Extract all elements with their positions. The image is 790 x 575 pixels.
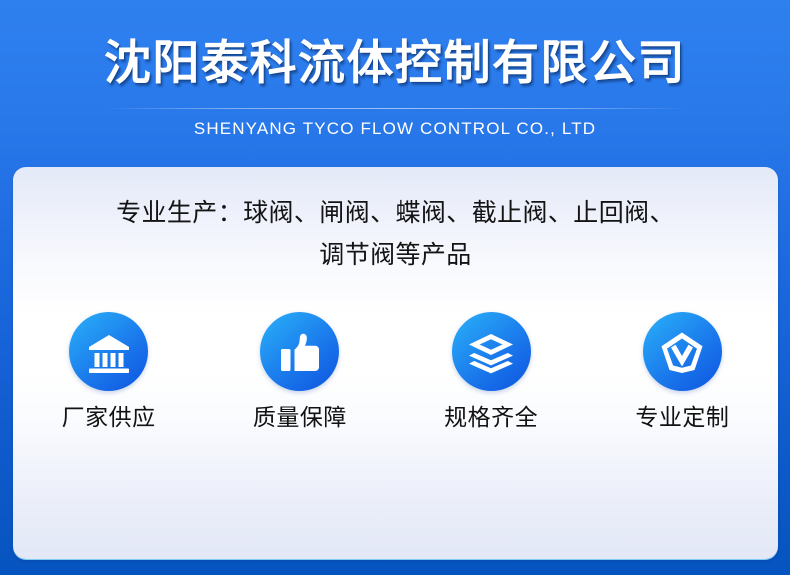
bank-building-icon [84,327,134,377]
product-description: 专业生产：球阀、闸阀、蝶阀、截止阀、止回阀、 调节阀等产品 [13,192,778,276]
feature-icon-circle [260,312,339,391]
feature-label: 专业定制 [635,403,729,431]
company-promo-banner: 沈阳泰科流体控制有限公司 SHENYANG TYCO FLOW CONTROL … [0,0,790,575]
feature-label: 质量保障 [253,403,347,431]
feature-icon-circle [69,312,148,391]
product-description-line-2: 调节阀等产品 [13,234,778,276]
feature-item-quality-guarantee: 质量保障 [220,312,380,431]
banner-header: 沈阳泰科流体控制有限公司 SHENYANG TYCO FLOW CONTROL … [0,0,790,167]
stacked-layers-icon [466,327,516,377]
feature-item-manufacturer-supply: 厂家供应 [29,312,189,431]
feature-list: 厂家供应 质量保障 [13,312,778,431]
feature-item-custom-manufacturing: 专业定制 [602,312,762,431]
feature-label: 规格齐全 [444,403,538,431]
diamond-gem-icon [657,327,707,377]
product-description-line-1: 专业生产：球阀、闸阀、蝶阀、截止阀、止回阀、 [13,192,778,234]
feature-item-full-specifications: 规格齐全 [411,312,571,431]
feature-label: 厂家供应 [62,403,156,431]
content-card: 专业生产：球阀、闸阀、蝶阀、截止阀、止回阀、 调节阀等产品 [13,167,778,559]
feature-icon-circle [452,312,531,391]
header-divider [108,108,682,109]
company-name-chinese: 沈阳泰科流体控制有限公司 [0,34,790,92]
feature-icon-circle [643,312,722,391]
company-name-english: SHENYANG TYCO FLOW CONTROL CO., LTD [0,118,790,140]
thumbs-up-icon [275,327,325,377]
